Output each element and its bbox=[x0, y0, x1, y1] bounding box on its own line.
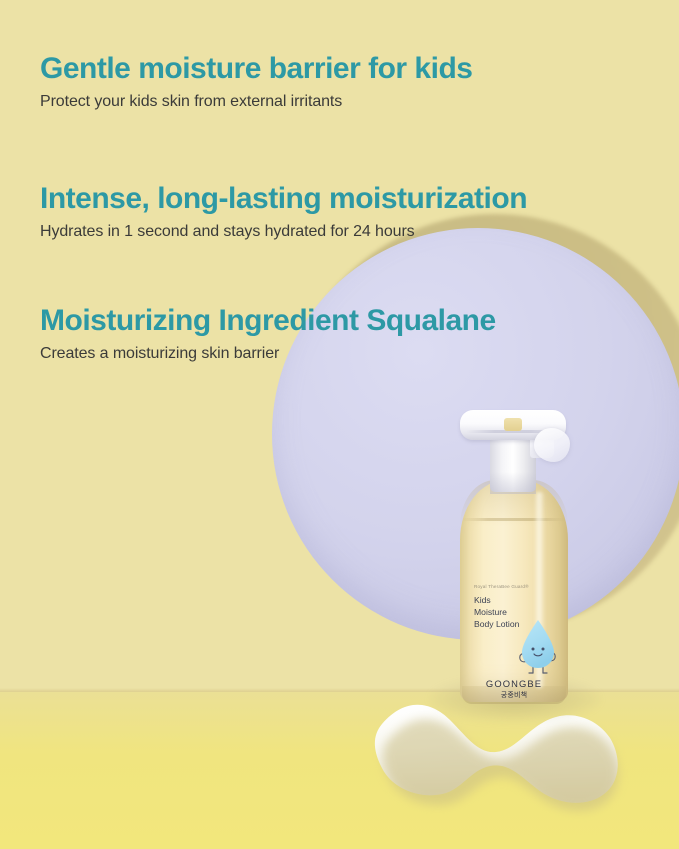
feature-headline-1: Gentle moisture barrier for kids bbox=[40, 52, 472, 86]
feature-block-3: Moisturizing Ingredient Squalane Creates… bbox=[40, 304, 496, 363]
feature-block-1: Gentle moisture barrier for kids Protect… bbox=[40, 52, 472, 111]
feature-headline-2: Intense, long-lasting moisturization bbox=[40, 182, 527, 216]
feature-headline-3: Moisturizing Ingredient Squalane bbox=[40, 304, 496, 338]
feature-subtext-3: Creates a moisturizing skin barrier bbox=[40, 344, 496, 363]
feature-block-2: Intense, long-lasting moisturization Hyd… bbox=[40, 182, 527, 241]
marketing-copy: Gentle moisture barrier for kids Protect… bbox=[0, 0, 679, 849]
feature-subtext-2: Hydrates in 1 second and stays hydrated … bbox=[40, 222, 527, 241]
product-marketing-image: Royal TheraBee Guard® Kids Moisture Body… bbox=[0, 0, 679, 849]
feature-subtext-1: Protect your kids skin from external irr… bbox=[40, 92, 472, 111]
